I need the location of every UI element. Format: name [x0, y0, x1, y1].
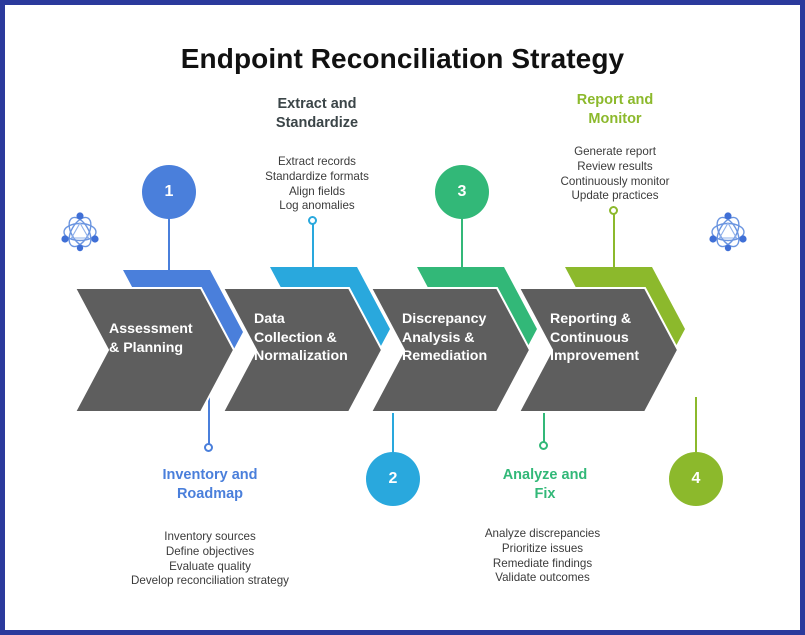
bullet-item: Standardize formats [237, 170, 397, 185]
bullet-item: Review results [535, 160, 695, 175]
bullet-item: Inventory sources [120, 530, 300, 545]
step-circle-3[interactable]: 3 [435, 165, 489, 219]
heading-line-1: Extract and [237, 95, 397, 114]
heading-inventory-roadmap: Inventory and Roadmap [130, 466, 290, 503]
heading-line-2: Fix [465, 485, 625, 504]
heading-analyze-fix: Analyze and Fix [465, 466, 625, 503]
chevron-label-4: Reporting & Continuous Improvement [550, 310, 680, 366]
bullet-item: Analyze discrepancies [460, 527, 625, 542]
chevron-label-line: Data [254, 310, 384, 329]
bullet-item: Evaluate quality [120, 560, 300, 575]
chevron-label-line: Normalization [254, 347, 384, 366]
chevron-label-line: Improvement [550, 347, 680, 366]
heading-line-1: Analyze and [465, 466, 625, 485]
chevron-label-2: Data Collection & Normalization [254, 310, 384, 366]
bullet-item: Generate report [535, 145, 695, 160]
heading-line-2: Roadmap [130, 485, 290, 504]
bullet-item: Develop reconciliation strategy [120, 574, 300, 589]
bullet-item: Define objectives [120, 545, 300, 560]
heading-extract-standardize: Extract and Standardize [237, 95, 397, 132]
atom-icon-right [705, 207, 751, 262]
chevron-label-1: Assessment & Planning [109, 320, 229, 357]
bullets-report-monitor: Generate report Review results Continuou… [535, 145, 695, 204]
chevron-label-line: Remediation [402, 347, 532, 366]
bullets-analyze-fix: Analyze discrepancies Prioritize issues … [460, 527, 625, 586]
heading-line-1: Inventory and [130, 466, 290, 485]
step-circle-2[interactable]: 2 [366, 452, 420, 506]
bullets-inventory-roadmap: Inventory sources Define objectives Eval… [120, 530, 300, 589]
heading-line-2: Monitor [535, 110, 695, 129]
chevron-label-line: Continuous [550, 329, 680, 348]
chevron-label-line: Reporting & [550, 310, 680, 329]
bullet-item: Validate outcomes [460, 571, 625, 586]
chevron-label-line: Assessment [109, 320, 229, 339]
heading-line-1: Report and [535, 91, 695, 110]
bullet-item: Extract records [237, 155, 397, 170]
page-title: Endpoint Reconciliation Strategy [5, 43, 800, 75]
connector-ring-step-2 [308, 216, 317, 225]
bullet-item: Prioritize issues [460, 542, 625, 557]
bullet-item: Update practices [535, 189, 695, 204]
chevron-label-line: Analysis & [402, 329, 532, 348]
connector-ring-step-3 [539, 441, 548, 450]
diagram-frame: Endpoint Reconciliation Strategy [0, 0, 805, 635]
diagram-canvas: Endpoint Reconciliation Strategy [5, 5, 800, 630]
heading-report-monitor: Report and Monitor [535, 91, 695, 128]
connector-ring-step-1 [204, 443, 213, 452]
bullet-item: Remediate findings [460, 557, 625, 572]
step-number: 3 [458, 183, 467, 201]
chevron-label-line: Collection & [254, 329, 384, 348]
bullet-item: Log anomalies [237, 199, 397, 214]
step-number: 1 [165, 183, 174, 201]
chevron-label-line: Discrepancy [402, 310, 532, 329]
step-circle-4[interactable]: 4 [669, 452, 723, 506]
heading-line-2: Standardize [237, 114, 397, 133]
bullets-extract-standardize: Extract records Standardize formats Alig… [237, 155, 397, 214]
atom-icon-left [57, 207, 103, 262]
bullet-item: Align fields [237, 185, 397, 200]
step-circle-1[interactable]: 1 [142, 165, 196, 219]
chevron-label-line: & Planning [109, 339, 229, 358]
chevron-label-3: Discrepancy Analysis & Remediation [402, 310, 532, 366]
bullet-item: Continuously monitor [535, 175, 695, 190]
step-number: 4 [692, 470, 701, 488]
step-number: 2 [389, 470, 398, 488]
connector-ring-step-4 [609, 206, 618, 215]
